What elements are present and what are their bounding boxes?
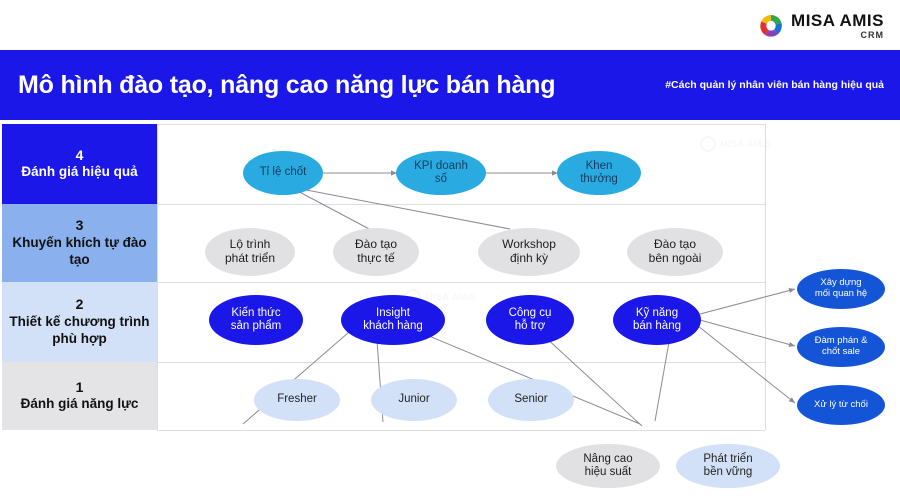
node-lo-trinh-phat-trien[interactable]: Lộ trình phát triển (205, 228, 295, 276)
node-phat-trien-ben-vung[interactable]: Phát triển bền vững (676, 444, 780, 488)
brand-name: MISA AMIS (791, 12, 884, 29)
brand-product: CRM (861, 31, 885, 40)
node-kpi-doanh-so[interactable]: KPI doanh số (396, 151, 486, 195)
diagram-stage: MISA AMIS MISA AMIS MISA AMIS 4 Đánh giá… (0, 124, 900, 500)
node-dao-tao-ben-ngoai[interactable]: Đào tạo bên ngoài (627, 228, 723, 276)
connector (698, 326, 795, 403)
connector (292, 188, 373, 231)
connector (700, 289, 795, 314)
node-xay-dung-moi-quan-he[interactable]: Xây dựng mối quan hệ (797, 269, 885, 309)
brand-logo: MISA AMIS CRM (758, 12, 884, 40)
node-workshop-dinh-ky[interactable]: Workshop định kỳ (478, 228, 580, 276)
connector (296, 188, 510, 229)
node-kien-thuc-san-pham[interactable]: Kiến thức sản phẩm (209, 295, 303, 345)
node-cong-cu-ho-tro[interactable]: Công cụ hỗ trợ (486, 295, 574, 345)
node-ky-nang-ban-hang[interactable]: Kỹ năng bán hàng (613, 295, 701, 345)
node-nang-cao-hieu-suat[interactable]: Nâng cao hiệu suất (556, 444, 660, 488)
page-title: Mô hình đào tạo, nâng cao năng lực bán h… (18, 71, 555, 100)
node-dao-tao-thuc-te[interactable]: Đào tạo thực tế (333, 228, 419, 276)
node-junior[interactable]: Junior (371, 379, 457, 421)
node-senior[interactable]: Senior (488, 379, 574, 421)
misa-swirl-icon (758, 13, 784, 39)
node-dam-phan-chot-sale[interactable]: Đàm phán & chốt sale (797, 327, 885, 367)
connector (700, 320, 795, 346)
node-khen-thuong[interactable]: Khen thưởng (557, 151, 641, 195)
title-banner: Mô hình đào tạo, nâng cao năng lực bán h… (0, 50, 900, 120)
node-ti-le-chot[interactable]: Tỉ lệ chốt (243, 151, 323, 195)
node-fresher[interactable]: Fresher (254, 379, 340, 421)
node-insight-khach-hang[interactable]: Insight khách hàng (341, 295, 445, 345)
slide-canvas: MISA AMIS CRM Mô hình đào tạo, nâng cao … (0, 0, 900, 500)
brand-text: MISA AMIS CRM (791, 12, 884, 40)
banner-hashtag: #Cách quản lý nhân viên bán hàng hiệu qu… (665, 79, 884, 91)
node-xu-ly-tu-choi[interactable]: Xử lý từ chối (797, 385, 885, 425)
